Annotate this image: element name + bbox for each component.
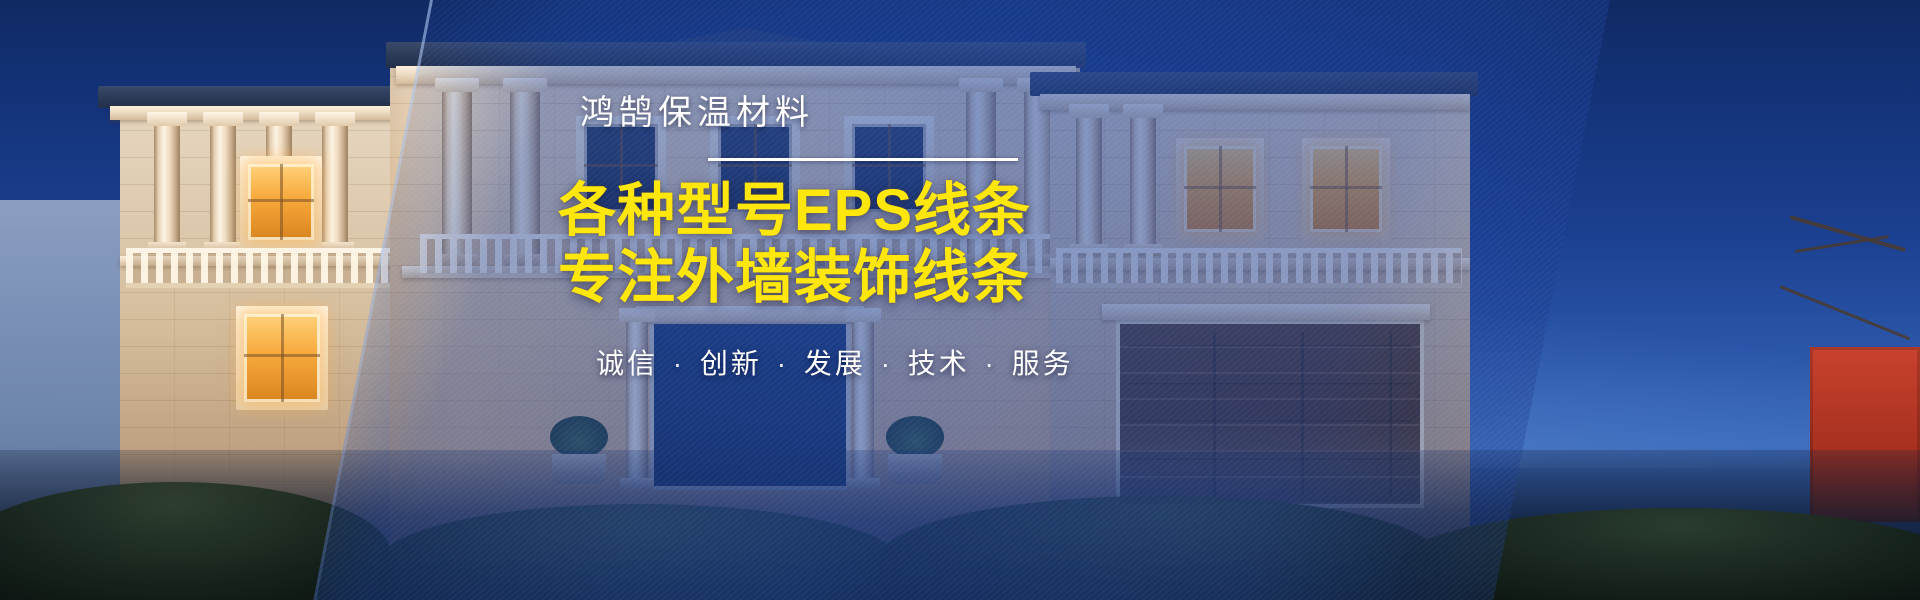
- subtitle-separator: ·: [981, 348, 1001, 379]
- subtitle: 诚信 · 创新 · 发展 · 技术 · 服务: [556, 342, 1076, 382]
- divider-rule: [708, 158, 1018, 161]
- subtitle-item-1: 诚信: [596, 348, 658, 379]
- headline-line-2: 专注外墙装饰线条: [558, 244, 1076, 311]
- window-mullion: [248, 199, 314, 202]
- subtitle-separator: ·: [669, 348, 689, 379]
- window-mullion: [280, 164, 283, 240]
- hero-banner: 鸿鹄保温材料 各种型号EPS线条 专注外墙装饰线条 诚信 · 创新 · 发展 ·…: [0, 0, 1920, 600]
- subtitle-item-2: 创新: [700, 348, 762, 379]
- headline: 各种型号EPS线条 专注外墙装饰线条: [556, 177, 1076, 312]
- column: [154, 124, 180, 254]
- subtitle-item-5: 服务: [1012, 348, 1074, 379]
- column: [322, 124, 348, 254]
- column: [210, 124, 236, 254]
- lit-window: [244, 314, 320, 402]
- headline-line-1: 各种型号EPS线条: [558, 177, 1076, 244]
- window-mullion: [244, 354, 320, 357]
- lit-window: [248, 164, 314, 240]
- window-mullion: [281, 314, 284, 402]
- subtitle-item-3: 发展: [804, 348, 866, 379]
- banner-text-block: 鸿鹄保温材料 各种型号EPS线条 专注外墙装饰线条 诚信 · 创新 · 发展 ·…: [556, 96, 1076, 382]
- balustrade: [126, 248, 414, 288]
- brand-name: 鸿鹄保温材料: [556, 96, 1076, 130]
- subtitle-separator: ·: [773, 348, 793, 379]
- subtitle-item-4: 技术: [908, 348, 970, 379]
- subtitle-separator: ·: [877, 348, 897, 379]
